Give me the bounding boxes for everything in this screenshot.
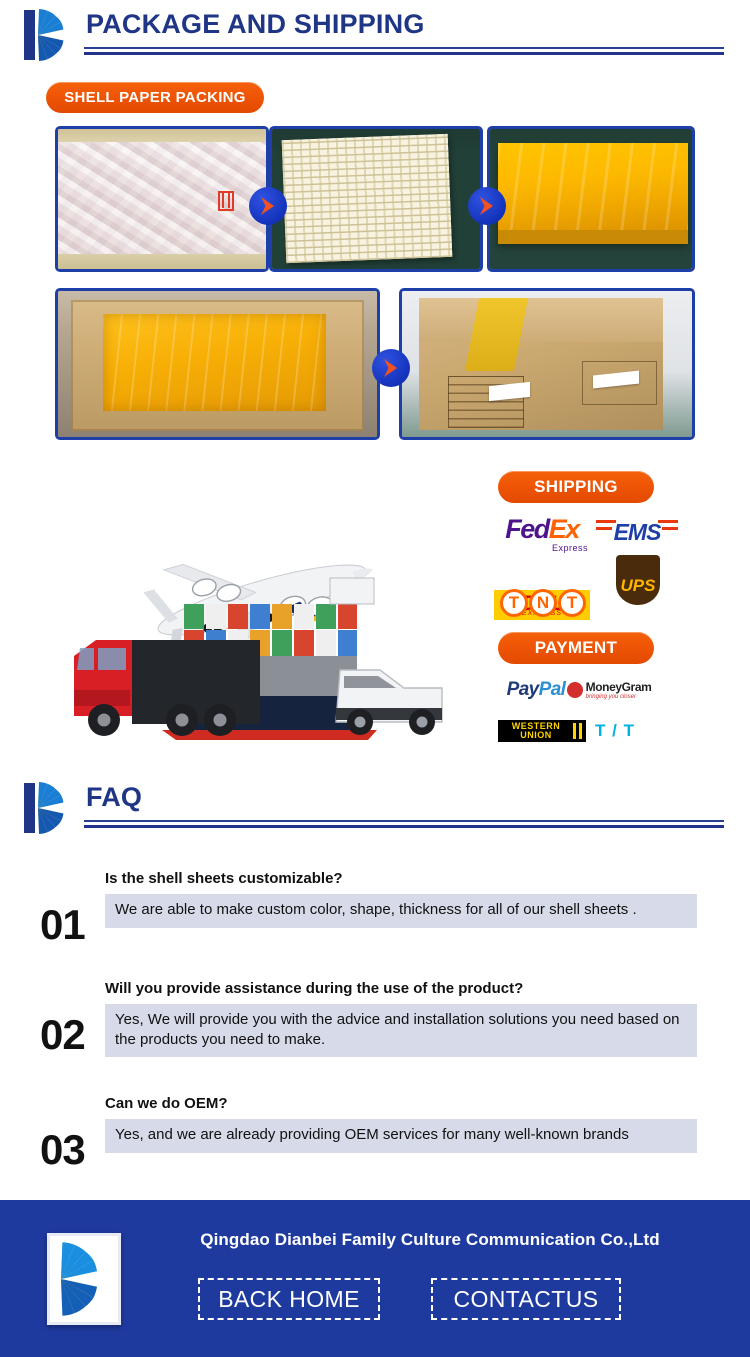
product-detail-page: PACKAGE AND SHIPPING SHELL PAPER PACKING bbox=[0, 0, 750, 1357]
contact-us-button[interactable]: CONTACTUS bbox=[431, 1278, 621, 1320]
package-section-header: PACKAGE AND SHIPPING bbox=[0, 6, 750, 70]
faq-question: Is the shell sheets customizable? bbox=[105, 870, 343, 887]
ups-text: UPS bbox=[621, 576, 656, 596]
back-home-button[interactable]: BACK HOME bbox=[198, 1278, 380, 1320]
company-name: Qingdao Dianbei Family Culture Communica… bbox=[150, 1230, 710, 1250]
chevron-right-icon bbox=[468, 187, 506, 225]
payment-badge: PAYMENT bbox=[498, 632, 654, 664]
ups-logo: UPS bbox=[613, 552, 663, 608]
faq-answer: Yes, We will provide you with the advice… bbox=[105, 1004, 697, 1057]
ems-text: EMS bbox=[614, 519, 661, 546]
raw-shell-sheet-photo bbox=[55, 126, 269, 272]
ems-logo: EMS bbox=[596, 515, 678, 549]
faq-section-title: FAQ bbox=[86, 782, 142, 813]
moneygram-logo: MoneyGram bringing you closer bbox=[556, 676, 662, 704]
faq-answer: Yes, and we are already providing OEM se… bbox=[105, 1119, 697, 1153]
tt-logo: T / T bbox=[588, 719, 642, 743]
shell-paper-packing-badge: SHELL PAPER PACKING bbox=[46, 82, 264, 113]
logo-bar bbox=[24, 783, 35, 833]
chevron-right-icon bbox=[249, 187, 287, 225]
company-fan-logo bbox=[24, 8, 80, 64]
yellow-wrapped-stack-photo bbox=[487, 126, 695, 272]
fan-shell-icon bbox=[36, 8, 80, 62]
freight-transport-illustration bbox=[62, 470, 482, 750]
chevron-right-icon bbox=[372, 349, 410, 387]
wu-line2: UNION bbox=[520, 731, 552, 740]
sealed-carton-photo bbox=[399, 288, 695, 440]
logo-bar bbox=[24, 10, 35, 60]
faq-question: Will you provide assistance during the u… bbox=[105, 980, 523, 997]
page-footer: Qingdao Dianbei Family Culture Communica… bbox=[0, 1200, 750, 1357]
western-union-logo: WESTERN UNION bbox=[498, 720, 586, 742]
company-fan-logo bbox=[47, 1233, 121, 1325]
shipping-badge: SHIPPING bbox=[498, 471, 654, 503]
faq-section-header: FAQ bbox=[0, 779, 750, 843]
faq-question: Can we do OEM? bbox=[105, 1095, 228, 1112]
fedex-sub-label: Express bbox=[552, 543, 588, 553]
company-fan-logo bbox=[24, 781, 80, 837]
ups-shield-icon: UPS bbox=[616, 555, 660, 605]
paper-stack-photo bbox=[269, 126, 483, 272]
moneygram-text: MoneyGram bbox=[586, 680, 652, 694]
faq-number: 03 bbox=[40, 1126, 85, 1174]
tnt-logo: TNT bbox=[498, 586, 588, 620]
faq-number: 01 bbox=[40, 901, 85, 949]
faq-number: 02 bbox=[40, 1011, 85, 1059]
fan-shell-icon bbox=[55, 1240, 113, 1318]
faq-answer: We are able to make custom color, shape,… bbox=[105, 894, 697, 928]
moneygram-tagline: bringing you closer bbox=[586, 694, 636, 700]
fedex-logo: FedEx Express bbox=[494, 513, 590, 555]
carton-inner-photo bbox=[55, 288, 380, 440]
moneygram-dot-icon bbox=[567, 682, 583, 698]
fan-shell-icon bbox=[36, 781, 80, 835]
package-section-title: PACKAGE AND SHIPPING bbox=[86, 9, 425, 40]
